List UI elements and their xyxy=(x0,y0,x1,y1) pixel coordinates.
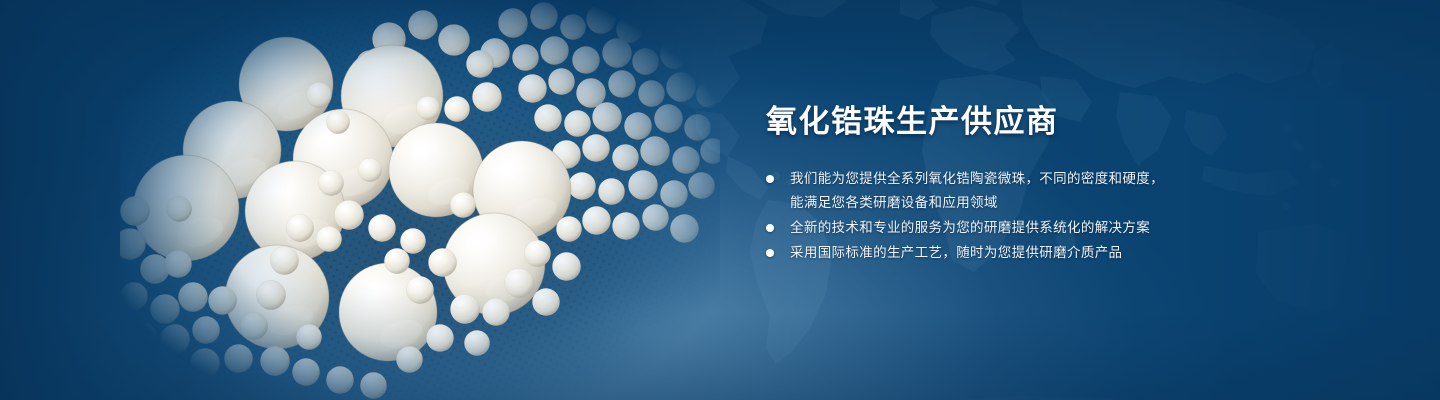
hero-banner: 氧化锆珠生产供应商 我们能为您提供全系列氧化锆陶瓷微珠，不同的密度和硬度， 能满… xyxy=(0,0,1440,400)
feature-item-2-line-1: 全新的技术和专业的服务为您的研磨提供系统化的解决方案 xyxy=(790,216,1236,240)
bullet-dot-icon xyxy=(766,224,774,232)
banner-text-block: 氧化锆珠生产供应商 我们能为您提供全系列氧化锆陶瓷微珠，不同的密度和硬度， 能满… xyxy=(766,104,1236,266)
feature-item-3: 采用国际标准的生产工艺，随时为您提供研磨介质产品 xyxy=(766,241,1236,265)
feature-item-3-line-1: 采用国际标准的生产工艺，随时为您提供研磨介质产品 xyxy=(790,241,1236,265)
feature-item-1: 我们能为您提供全系列氧化锆陶瓷微珠，不同的密度和硬度， 能满足您各类研磨设备和应… xyxy=(766,167,1236,215)
bullet-dot-icon xyxy=(766,175,774,183)
feature-item-1-line-1: 我们能为您提供全系列氧化锆陶瓷微珠，不同的密度和硬度， xyxy=(790,167,1236,191)
zirconia-beads-photo xyxy=(120,0,720,400)
banner-feature-list: 我们能为您提供全系列氧化锆陶瓷微珠，不同的密度和硬度， 能满足您各类研磨设备和应… xyxy=(766,167,1236,265)
banner-headline: 氧化锆珠生产供应商 xyxy=(766,104,1236,141)
bullet-dot-icon xyxy=(766,249,774,257)
feature-item-1-line-2: 能满足您各类研磨设备和应用领域 xyxy=(790,191,1236,215)
feature-item-2: 全新的技术和专业的服务为您的研磨提供系统化的解决方案 xyxy=(766,216,1236,240)
